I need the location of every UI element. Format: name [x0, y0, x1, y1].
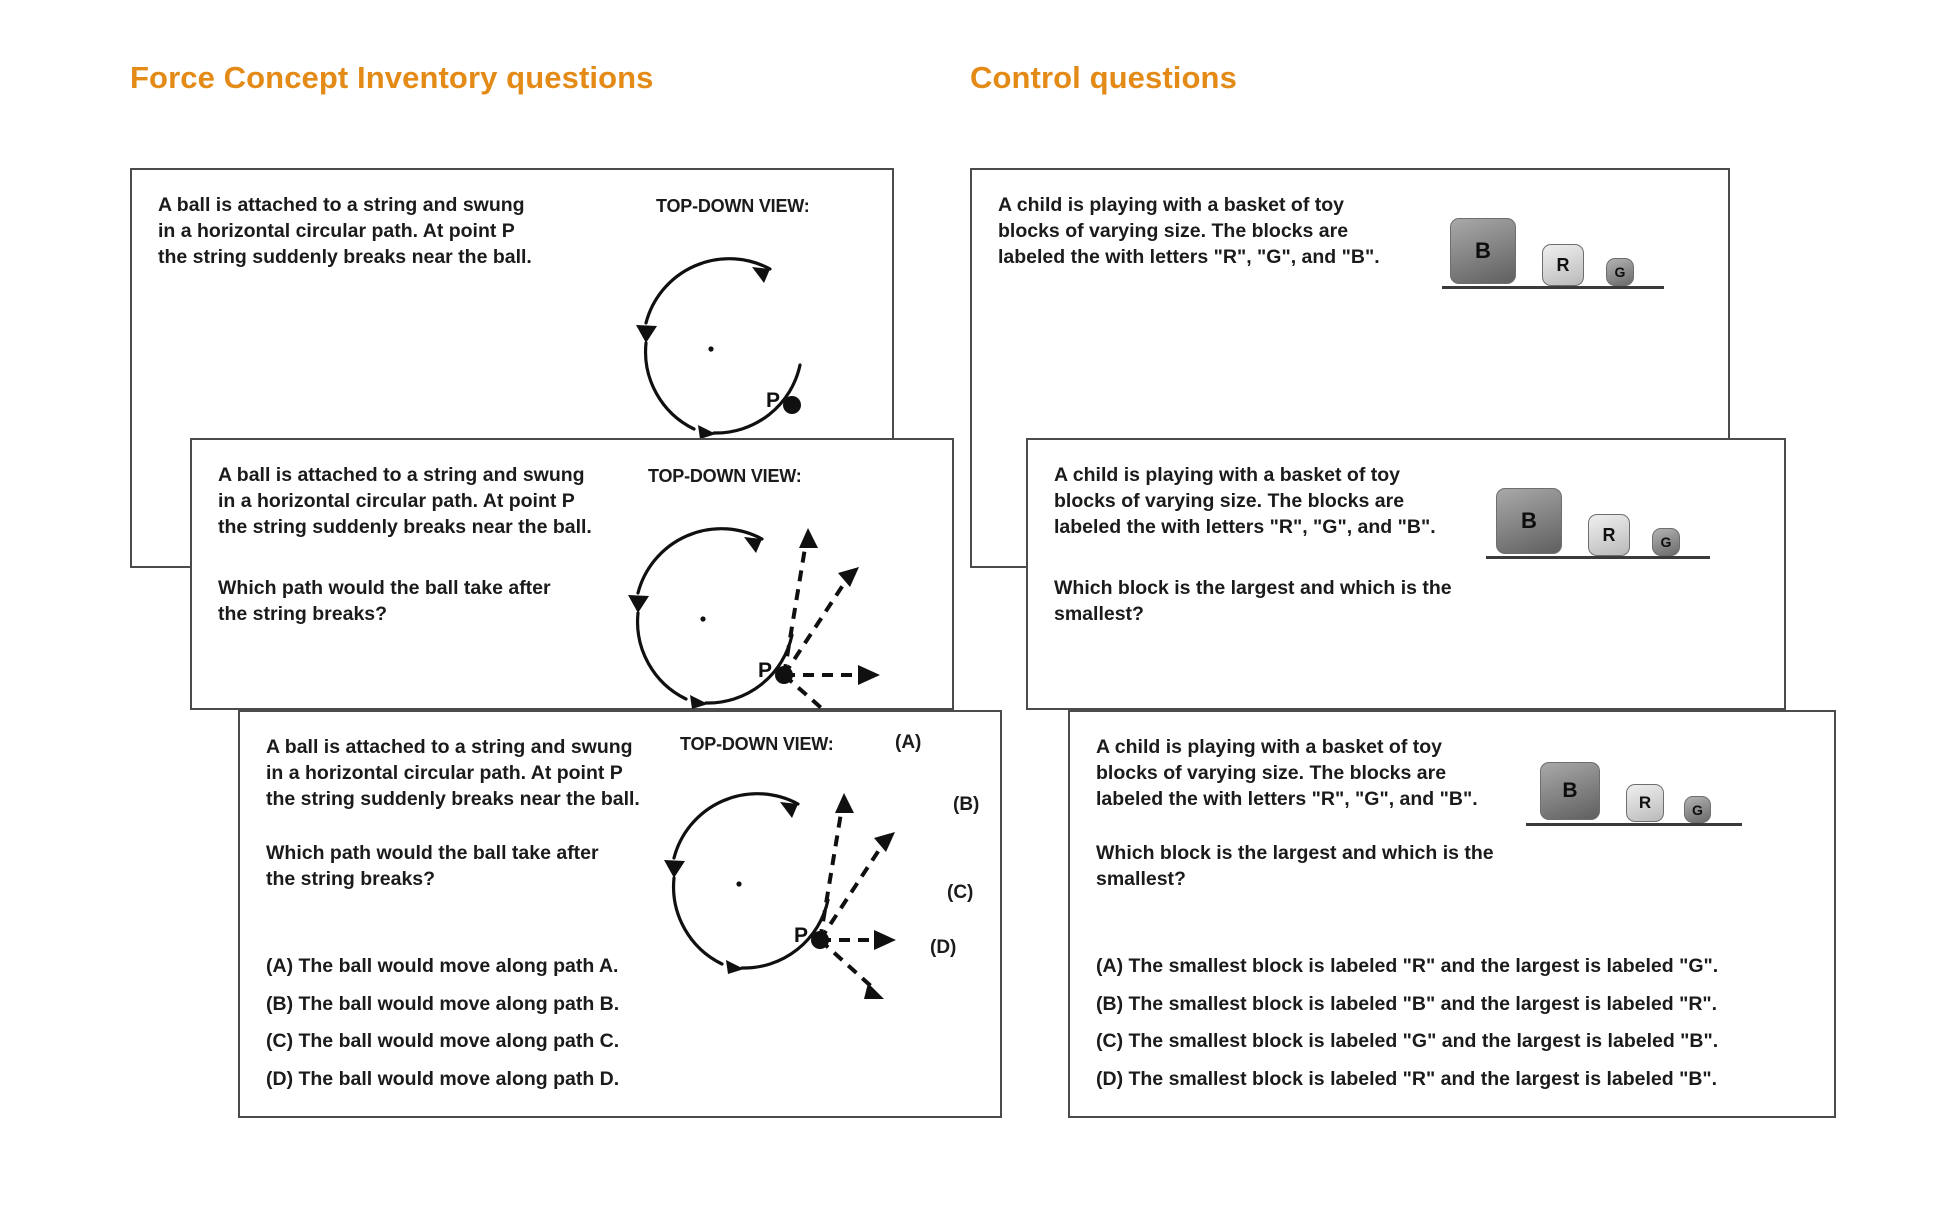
block-b: B — [1496, 488, 1562, 554]
block-g: G — [1652, 528, 1680, 556]
fci-card-2: A ball is attached to a string and swung… — [190, 438, 954, 710]
block-r: R — [1626, 784, 1664, 822]
fci-card-2-diagram: P — [594, 495, 924, 745]
fci-path-label-a: (A) — [895, 732, 921, 754]
control-card-1-blocks: B R G — [1442, 200, 1702, 320]
control-option-c[interactable]: (C) The smallest block is labeled "G" an… — [1096, 1023, 1718, 1061]
block-g: G — [1606, 258, 1634, 286]
control-option-a[interactable]: (A) The smallest block is labeled "R" an… — [1096, 948, 1718, 986]
control-card-2-blocks: B R G — [1486, 470, 1746, 590]
block-r: R — [1542, 244, 1584, 286]
svg-text:P: P — [794, 924, 808, 947]
block-r-label: R — [1603, 525, 1616, 546]
control-card-3: A child is playing with a basket of toy … — [1068, 710, 1836, 1118]
block-b-label: B — [1562, 779, 1577, 803]
control-option-b[interactable]: (B) The smallest block is labeled "B" an… — [1096, 986, 1718, 1024]
fci-option-d[interactable]: (D) The ball would move along path D. — [266, 1061, 619, 1099]
fci-card-3-diagram: P — [630, 760, 960, 1010]
svg-text:P: P — [766, 389, 780, 412]
block-g-label: G — [1661, 534, 1672, 550]
fci-card-2-view-label: TOP-DOWN VIEW: — [648, 466, 802, 487]
control-card-3-blocks: B R G — [1526, 740, 1786, 860]
fci-card-1-stem: A ball is attached to a string and swung… — [158, 192, 618, 270]
control-card-3-stem: A child is playing with a basket of toy … — [1096, 734, 1596, 812]
control-card-2: A child is playing with a basket of toy … — [1026, 438, 1786, 710]
column-title-fci: Force Concept Inventory questions — [130, 60, 654, 96]
fci-card-3-view-label: TOP-DOWN VIEW: — [680, 734, 834, 755]
block-b: B — [1540, 762, 1600, 820]
fci-option-c[interactable]: (C) The ball would move along path C. — [266, 1023, 619, 1061]
column-title-control: Control questions — [970, 60, 1237, 96]
block-g: G — [1684, 796, 1711, 823]
control-card-3-question: Which block is the largest and which is … — [1096, 840, 1596, 892]
control-card-2-question: Which block is the largest and which is … — [1054, 575, 1554, 627]
fci-option-a[interactable]: (A) The ball would move along path A. — [266, 948, 619, 986]
block-r-label: R — [1639, 793, 1651, 813]
control-card-1-stem: A child is playing with a basket of toy … — [998, 192, 1498, 270]
control-card-3-options: (A) The smallest block is labeled "R" an… — [1096, 948, 1718, 1098]
block-b-label: B — [1475, 238, 1491, 264]
fci-option-b[interactable]: (B) The ball would move along path B. — [266, 986, 619, 1024]
block-ground-line — [1442, 286, 1664, 289]
svg-text:P: P — [758, 659, 772, 682]
block-ground-line — [1486, 556, 1710, 559]
block-b: B — [1450, 218, 1516, 284]
block-r-label: R — [1557, 255, 1570, 276]
block-b-label: B — [1521, 508, 1537, 534]
fci-card-3: A ball is attached to a string and swung… — [238, 710, 1002, 1118]
control-option-d[interactable]: (D) The smallest block is labeled "R" an… — [1096, 1061, 1718, 1099]
fci-card-1-view-label: TOP-DOWN VIEW: — [656, 196, 810, 217]
figure-canvas: Force Concept Inventory questions Contro… — [0, 0, 1955, 1209]
control-card-2-stem: A child is playing with a basket of toy … — [1054, 462, 1554, 540]
block-ground-line — [1526, 823, 1742, 826]
block-g-label: G — [1692, 802, 1703, 818]
block-g-label: G — [1615, 264, 1626, 280]
fci-card-3-options: (A) The ball would move along path A. (B… — [266, 948, 619, 1098]
block-r: R — [1588, 514, 1630, 556]
